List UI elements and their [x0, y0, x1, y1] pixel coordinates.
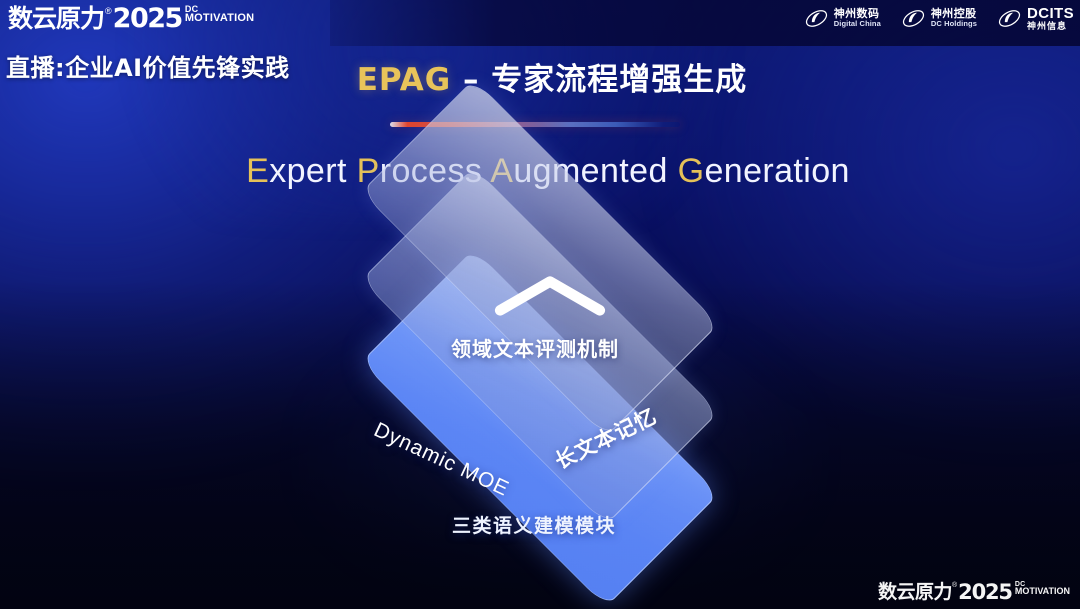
- layer-stack-diagram: 领域文本评测机制 Dynamic MOE 长文本记忆 三类语义建模模块: [0, 0, 1080, 609]
- watermark-year: 2025: [958, 581, 1012, 603]
- watermark-reg: ®: [952, 581, 957, 591]
- slide-canvas: 数云原力 ® 2025 DC MOTIVATION 直播:企业AI价值先锋实践 …: [0, 0, 1080, 609]
- diagram-layer-bottom-label: 三类语义建模模块: [0, 511, 1074, 538]
- diagram-layer-top-label: 领域文本评测机制: [0, 333, 1075, 362]
- chevron-up-icon: [491, 272, 609, 318]
- watermark-dc-motivation: DC MOTIVATION: [1015, 581, 1070, 596]
- watermark-motivation: MOTIVATION: [1015, 587, 1070, 596]
- watermark-logo: 数云原力 ® 2025 DC MOTIVATION: [878, 581, 1070, 603]
- watermark-cn: 数云原力: [878, 581, 952, 603]
